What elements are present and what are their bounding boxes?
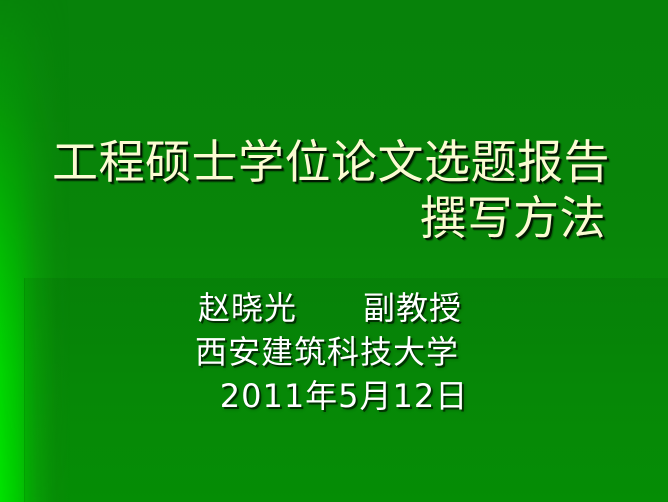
presentation-date: 2011年5月12日 [0, 374, 668, 418]
title-line-secondary: 撰写方法 [52, 190, 612, 246]
title-slide: 工程硕士学位论文选题报告 撰写方法 赵晓光 副教授 西安建筑科技大学 2011年… [0, 0, 668, 502]
title-line-primary: 工程硕士学位论文选题报告 [52, 134, 612, 190]
slide-byline: 赵晓光 副教授 西安建筑科技大学 2011年5月12日 [0, 286, 668, 418]
slide-title: 工程硕士学位论文选题报告 撰写方法 [52, 134, 612, 246]
affiliation-university: 西安建筑科技大学 [0, 330, 668, 374]
presenter-name-and-rank: 赵晓光 副教授 [0, 286, 668, 330]
